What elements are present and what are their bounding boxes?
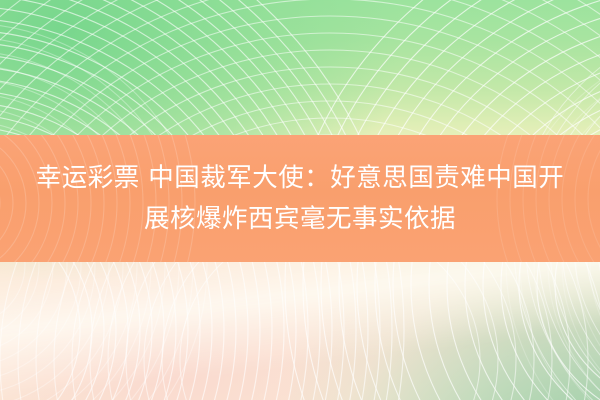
headline-line-1: 幸运彩票 中国裁军大使：好意思国责难中国开 [14, 158, 586, 199]
promo-banner: 幸运彩票 中国裁军大使：好意思国责难中国开 展核爆炸西宾毫无事实依据 [0, 0, 600, 400]
headline-text: 幸运彩票 中国裁军大使：好意思国责难中国开 展核爆炸西宾毫无事实依据 [0, 158, 600, 240]
headline-band: 幸运彩票 中国裁军大使：好意思国责难中国开 展核爆炸西宾毫无事实依据 [0, 135, 600, 262]
headline-line-2: 展核爆炸西宾毫无事实依据 [14, 199, 586, 240]
